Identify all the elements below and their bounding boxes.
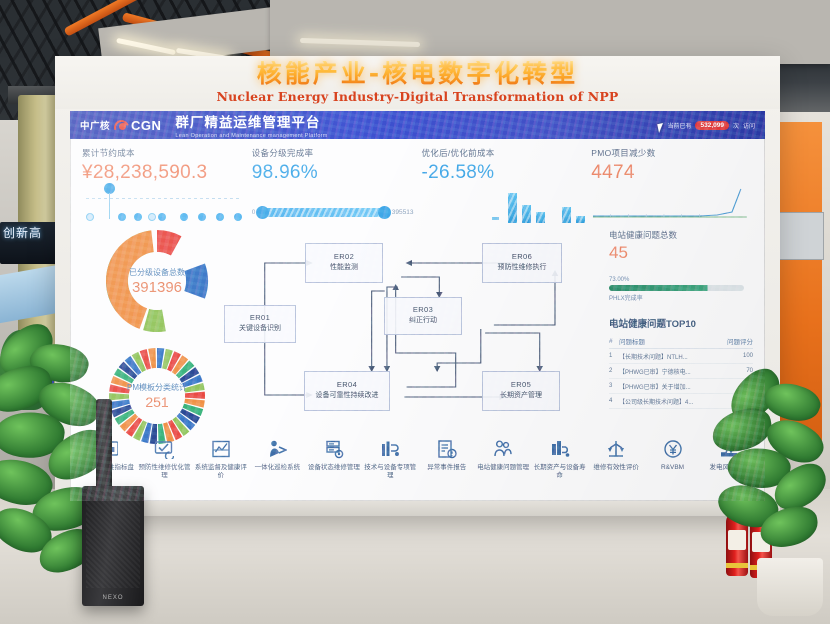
visits-label: 当前已有 <box>667 121 691 130</box>
scatter-point <box>134 213 142 221</box>
visit-counter: 当前已有 532,099 次 访问 <box>667 121 755 130</box>
nav-item-10[interactable]: 维修有效性评价 <box>590 437 642 472</box>
slider-track[interactable] <box>260 208 386 217</box>
nav-item-label: R&VBM <box>647 464 699 472</box>
node-id: ER03 <box>413 305 433 316</box>
node-text: 设备可靠性持续改进 <box>316 391 379 401</box>
scatter-point <box>216 213 224 221</box>
scatter-point <box>180 213 188 221</box>
node-id: ER02 <box>334 252 354 263</box>
donut-value: 251 <box>145 394 168 410</box>
bar <box>536 212 545 223</box>
col-index: # <box>609 334 619 349</box>
node-id: ER05 <box>511 380 531 391</box>
scatter-point <box>86 213 94 221</box>
node-id: ER04 <box>337 380 357 391</box>
slider-min-label: 0 <box>252 209 256 216</box>
nav-item-3[interactable]: 系统监督及健康评价 <box>195 437 247 481</box>
module-nav-bar: 设备可靠性指标盘预防性维修优化管理系统监督及健康评价一体化巡检系统设备状态维修管… <box>70 431 765 501</box>
row-index: 4 <box>609 394 619 409</box>
node-id: ER06 <box>512 252 532 263</box>
row-title: 【长期技术问题】NTLH... <box>619 349 727 364</box>
visits-count: 532,099 <box>695 121 729 130</box>
kpi-cumulative-savings[interactable]: 累计节约成本 ¥28,238,590.3 <box>82 147 252 225</box>
health-issues-label: 电站健康问题总数 <box>609 229 753 241</box>
row-index: 1 <box>609 349 619 364</box>
scatter-point <box>158 213 166 221</box>
table-row[interactable]: 1 【长期技术问题】NTLH... 100 <box>609 349 753 364</box>
server-gear-icon <box>308 437 360 461</box>
people-icon <box>477 437 529 461</box>
nav-item-label: 预防性维修优化管理 <box>138 464 190 481</box>
bar-flow-icon <box>364 437 416 461</box>
bar <box>522 205 531 223</box>
col-title: 问题标题 <box>619 334 727 349</box>
flow-node-er02[interactable]: ER02 性能监测 <box>305 243 383 283</box>
col-score: 问题评分 <box>727 334 753 349</box>
bar <box>508 193 517 223</box>
node-id: ER01 <box>250 313 270 324</box>
node-text: 纠正行动 <box>409 316 437 326</box>
health-issues-value: 45 <box>609 243 753 263</box>
cgn-logo-icon <box>113 119 129 131</box>
nexo-speaker: NEXO <box>82 486 144 606</box>
plant-leaf <box>709 405 775 455</box>
flow-node-er05[interactable]: ER05 长期资产管理 <box>482 371 560 411</box>
kpi-value: -26.58% <box>422 162 582 184</box>
kpi-label: PMO项目减少数 <box>591 147 751 159</box>
kpi-label: 累计节约成本 <box>82 147 242 159</box>
flow-node-er01[interactable]: ER01 关键设备识别 <box>224 305 296 343</box>
slider-max-label: 395513 <box>392 209 414 216</box>
kpi-cost-optimization[interactable]: 优化后/优化前成本 -26.58% <box>422 147 592 225</box>
bar <box>562 207 571 223</box>
nav-item-label: 技术与设备专项管理 <box>364 464 416 481</box>
node-text: 长期资产管理 <box>500 391 542 401</box>
nav-item-label: 异常事件报告 <box>421 464 473 472</box>
plant-pot-right <box>757 558 823 616</box>
progress-percent-label: 73.00% <box>609 277 753 283</box>
foreground-plant-right <box>706 376 830 562</box>
board-banner: 核能产业-核电数字化转型 Nuclear Energy Industry-Dig… <box>55 56 780 109</box>
grading-slider[interactable]: 0 395513 <box>252 208 414 217</box>
banner-title-en: Nuclear Energy Industry-Digital Transfor… <box>216 89 618 104</box>
table-header-row: # 问题标题 问题评分 <box>609 334 753 349</box>
system-title: 群厂精益运维管理平台 <box>175 111 327 131</box>
pmo-line-chart <box>591 183 749 221</box>
banner-title-cn: 核能产业-核电数字化转型 <box>257 61 578 87</box>
savings-scatter-chart <box>82 187 242 223</box>
booth-sign: 创新高 <box>0 222 62 264</box>
flow-node-er06[interactable]: ER06 预防性维修执行 <box>482 243 562 283</box>
nav-item-label: 设备状态维修管理 <box>308 464 360 472</box>
inspector-icon <box>251 437 303 461</box>
board-footer <box>55 501 780 516</box>
cost-bar-chart <box>508 189 585 223</box>
row-index: 3 <box>609 379 619 394</box>
report-icon <box>421 437 473 461</box>
row-score: 100 <box>727 349 753 364</box>
kpi-label: 优化后/优化前成本 <box>422 147 582 159</box>
nav-item-8[interactable]: 电站健康问题管理 <box>477 437 529 472</box>
speaker-brand-label: NEXO <box>82 595 144 601</box>
scatter-point <box>234 213 242 221</box>
node-text: 关键设备识别 <box>239 324 281 334</box>
nav-item-4[interactable]: 一体化巡检系统 <box>251 437 303 472</box>
brand-name-cn: 中广核 <box>80 118 110 132</box>
scatter-point <box>118 213 126 221</box>
nav-item-7[interactable]: 异常事件报告 <box>421 437 473 472</box>
extinguisher-band <box>726 563 748 568</box>
kpi-row: 累计节约成本 ¥28,238,590.3 <box>82 147 753 225</box>
visits-suffix: 访问 <box>743 121 755 130</box>
speaker-stand <box>96 399 112 494</box>
er-flow-diagram: ER01 关键设备识别 ER02 性能监测 ER03 纠正行动 ER04 设备可… <box>232 229 603 425</box>
kpi-label: 设备分级完成率 <box>252 147 412 159</box>
nav-item-label: 电站健康问题管理 <box>477 464 529 472</box>
kpi-value: ¥28,238,590.3 <box>82 162 242 184</box>
node-text: 预防性维修执行 <box>498 263 547 273</box>
bar <box>576 216 585 223</box>
chart-board-icon <box>195 437 247 461</box>
nav-item-2[interactable]: 预防性维修优化管理 <box>138 437 190 481</box>
kpi-grading-completion[interactable]: 设备分级完成率 98.96% 0 395513 <box>252 147 422 225</box>
exhibit-display-board: 核能产业-核电数字化转型 Nuclear Energy Industry-Dig… <box>55 56 780 516</box>
nav-item-label: 一体化巡检系统 <box>251 464 303 472</box>
glass-counter <box>0 265 58 323</box>
nav-item-label: 维修有效性评价 <box>590 464 642 472</box>
yuan-circle-icon <box>647 437 699 461</box>
monitor-check-icon <box>138 437 190 461</box>
kpi-value: 98.96% <box>252 162 412 184</box>
nav-item-label: 系统监督及健康评价 <box>195 464 247 481</box>
donut-value: 391396 <box>132 279 182 296</box>
donut-center: 已分级设备总数 391396 <box>128 252 186 310</box>
kpi-value: 4474 <box>591 162 751 184</box>
balance-icon <box>590 437 642 461</box>
ceiling-panel-2 <box>270 0 830 64</box>
node-text: 性能监测 <box>330 263 358 273</box>
scatter-stem <box>109 193 110 219</box>
donut-classified-equipment[interactable]: 已分级设备总数 391396 <box>105 229 209 333</box>
progress-caption: PHLX完成率 <box>609 293 753 302</box>
donut-label: 已分级设备总数 <box>129 267 185 278</box>
booth-sign-text: 创新高 <box>0 222 62 240</box>
visits-unit: 次 <box>733 121 739 130</box>
kpi-pmo-reduction[interactable]: PMO项目减少数 4474 <box>591 147 753 225</box>
dashboard-main-row: 已分级设备总数 391396 PM模板分类统计 251 <box>82 229 753 425</box>
nav-item-label: 长期资产与设备寿命 <box>534 464 586 481</box>
scatter-point <box>148 213 156 221</box>
nav-item-5[interactable]: 设备状态维修管理 <box>308 437 360 472</box>
flow-node-er04[interactable]: ER04 设备可靠性持续改进 <box>304 371 390 411</box>
top10-title: 电站健康问题TOP10 <box>609 316 753 330</box>
scatter-point <box>198 213 206 221</box>
phlx-progress-bar <box>609 285 744 291</box>
flow-node-er03[interactable]: ER03 纠正行动 <box>384 297 462 335</box>
dashboard-screen: 中广核 CGN 群厂精益运维管理平台 Lean Operation and Ma… <box>70 111 765 501</box>
bar-axis-tick <box>492 217 499 220</box>
asset-icon <box>534 437 586 461</box>
nav-item-11[interactable]: R&VBM <box>647 437 699 472</box>
nav-item-6[interactable]: 技术与设备专项管理 <box>364 437 416 481</box>
brand-name-en: CGN <box>131 118 161 133</box>
nav-item-9[interactable]: 长期资产与设备寿命 <box>534 437 586 481</box>
dashboard-body: 累计节约成本 ¥28,238,590.3 <box>70 139 765 501</box>
row-index: 2 <box>609 364 619 379</box>
